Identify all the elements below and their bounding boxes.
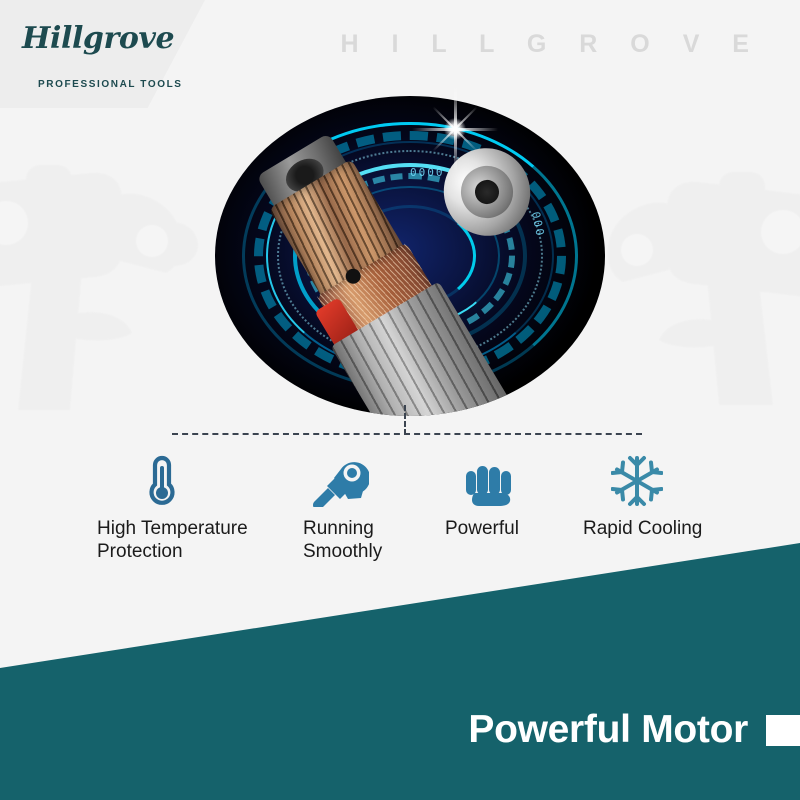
feature-label: High Temperature Protection: [97, 517, 248, 563]
product-feature-banner: Hillgrove PROFESSIONAL TOOLS H I L L G R…: [0, 0, 800, 800]
feature-label: Running Smoothly: [303, 517, 382, 563]
connector-line-horizontal: [172, 433, 642, 435]
fist-icon: [463, 455, 519, 507]
feature-item-running-smoothly: Running Smoothly: [303, 455, 382, 563]
feature-label: Rapid Cooling: [583, 517, 702, 540]
background-tool-watermark-right: [595, 170, 800, 405]
brand-wordmark: Hillgrove: [22, 24, 182, 54]
feature-item-powerful: Powerful: [445, 455, 519, 540]
hero-motor-image: 0000 00000000 000: [215, 96, 605, 416]
brand-watermark-text: H I L L G R O V E: [340, 30, 762, 59]
footer-headline-row: Powerful Motor: [0, 700, 800, 760]
headline-text: Powerful Motor: [468, 708, 748, 752]
thermometer-icon: [145, 455, 248, 507]
connector-line-vertical: [404, 405, 406, 435]
background-tool-watermark-left: [0, 165, 200, 410]
feature-item-rapid-cooling: Rapid Cooling: [583, 455, 702, 540]
snowflake-icon: [611, 455, 702, 507]
feature-item-high-temperature-protection: High Temperature Protection: [97, 455, 248, 563]
feature-label: Powerful: [445, 517, 519, 540]
angle-grinder-icon: [311, 455, 382, 507]
accent-block: [766, 715, 800, 746]
brand-tagline: PROFESSIONAL TOOLS: [38, 79, 183, 90]
